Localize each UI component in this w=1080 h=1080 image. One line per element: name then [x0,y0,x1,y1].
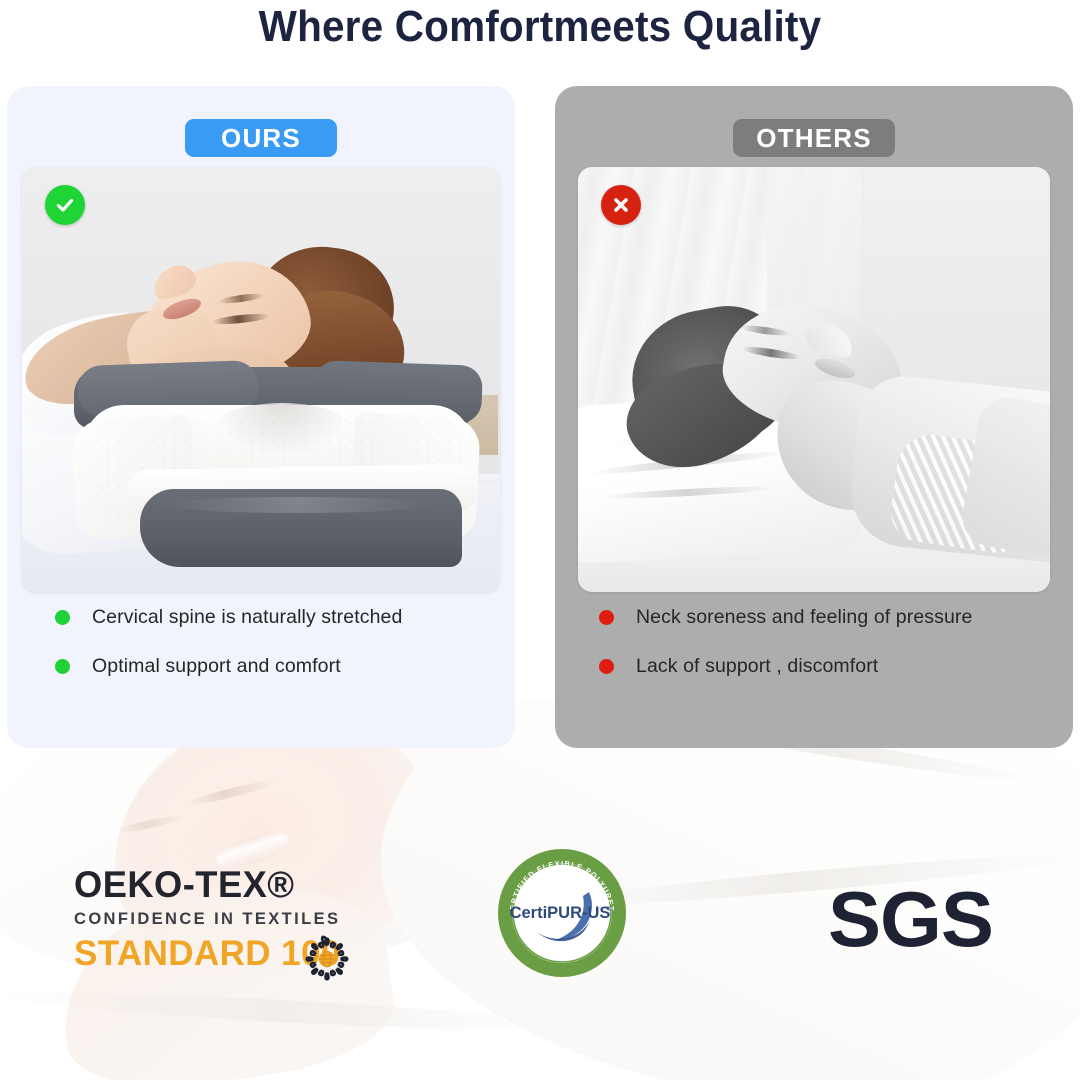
bullet-text: Lack of support , discomfort [636,655,878,678]
oeko-tex-snowflake-icon [296,928,358,990]
certipur-wordmark: CertiPUR-US [510,904,611,922]
bullet-text: Neck soreness and feeling of pressure [636,606,972,629]
photo-others [578,167,1050,592]
tag-ours: OURS [185,119,337,157]
certipur-registered-mark: ® [607,906,612,913]
x-circle-icon [601,185,641,225]
comparison-panel-others: OTHERS [555,86,1073,748]
photo-ours-pillow-base-highlight [162,497,432,513]
oeko-tex-tagline: CONFIDENCE IN TEXTILES [74,910,364,929]
photo-others-grayscale-wrapper [578,167,1050,592]
photo-ours [22,167,500,592]
certipur-us-seal: CONTAINS CERTIFIED FLEXIBLE POLYURETHANE… [497,848,627,978]
sgs-logo: SGS [828,880,993,958]
list-item: Optimal support and comfort [55,655,515,678]
infographic-stage: Where Comfortmeets Quality OURS [0,0,1080,1080]
certification-row: OEKO-TEX® CONFIDENCE IN TEXTILES STANDAR… [0,840,1080,1010]
bullet-dot-icon [599,610,614,625]
tag-others: OTHERS [733,119,895,157]
bullet-dot-icon [55,659,70,674]
bullet-dot-icon [55,610,70,625]
bullet-dot-icon [599,659,614,674]
oeko-tex-logo: OEKO-TEX® CONFIDENCE IN TEXTILES STANDAR… [74,866,364,986]
list-item: Cervical spine is naturally stretched [55,606,515,629]
bullet-text: Optimal support and comfort [92,655,341,678]
bullet-list-others: Neck soreness and feeling of pressure La… [555,606,1073,704]
page-title: Where Comfortmeets Quality [43,2,1037,52]
check-circle-icon [45,185,85,225]
oeko-tex-name: OEKO-TEX® [74,866,358,903]
list-item: Lack of support , discomfort [599,655,1073,678]
list-item: Neck soreness and feeling of pressure [599,606,1073,629]
comparison-panel-ours: OURS [7,86,515,748]
bullet-text: Cervical spine is naturally stretched [92,606,402,629]
bullet-list-ours: Cervical spine is naturally stretched Op… [7,606,515,704]
